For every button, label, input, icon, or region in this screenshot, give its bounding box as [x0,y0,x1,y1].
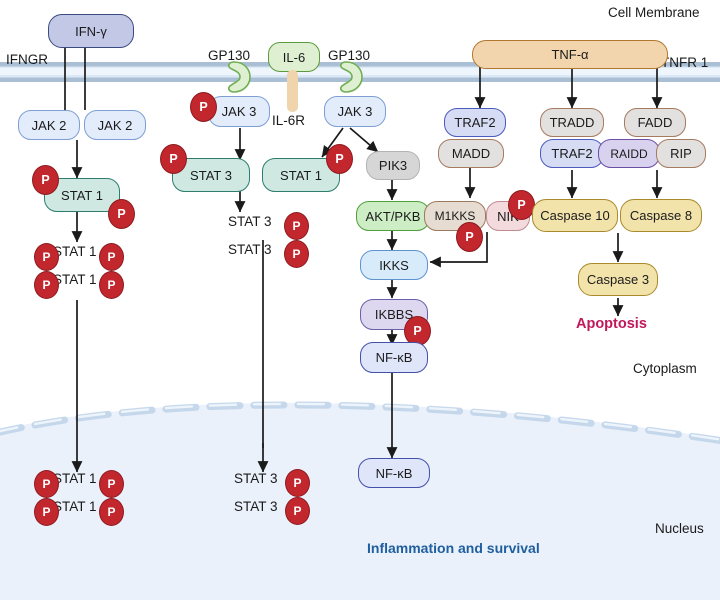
node-fadd[interactable]: FADD [624,108,686,137]
phosphate-stat1-nuc-a-left: P [34,470,59,498]
phosphate-stat1-ifn-right: P [108,199,135,229]
phosphate-stat3-nuc-b: P [285,497,310,525]
outcome-inflammation: Inflammation and survival [367,540,540,556]
node-madd[interactable]: MADD [438,139,504,168]
node-jak3-left[interactable]: JAK 3 [208,96,270,127]
node-nfkb-nucleus[interactable]: NF-κB [358,458,430,488]
il6r-stem [287,70,298,112]
stat3-dimer-a: STAT 3 [228,214,272,229]
phosphate-stat3-nuc-a: P [285,469,310,497]
phosphate-stat1-dimer-b-left: P [34,271,59,299]
node-akt-pkb[interactable]: AKT/PKB [356,201,430,231]
phosphate-stat3-dimer-a: P [284,212,309,240]
phosphate-stat3-dimer-b: P [284,240,309,268]
phosphate-stat1-il6: P [326,144,353,174]
node-tradd[interactable]: TRADD [540,108,604,137]
stat3-dimer-b: STAT 3 [228,242,272,257]
outcome-apoptosis: Apoptosis [576,316,647,332]
phosphate-stat1-dimer-a-left: P [34,243,59,271]
stat1-dimer-b: STAT 1 [53,272,97,287]
cytoplasm-label: Cytoplasm [633,361,697,376]
stat3-nucleus-b: STAT 3 [234,499,278,514]
ligand-il6[interactable]: IL-6 [268,42,320,72]
ligand-ifn-gamma[interactable]: IFN-γ [48,14,134,48]
node-raidd[interactable]: RAIDD [598,139,660,168]
gp130-left-icon[interactable] [218,60,252,94]
cell-membrane-label: Cell Membrane [608,5,700,20]
stat1-dimer-a: STAT 1 [53,244,97,259]
node-jak3-right[interactable]: JAK 3 [324,96,386,127]
stat1-nucleus-a: STAT 1 [53,471,97,486]
node-jak2-right[interactable]: JAK 2 [84,110,146,140]
gp130-right-icon[interactable] [330,60,364,94]
node-caspase3[interactable]: Caspase 3 [578,263,658,296]
node-pik3[interactable]: PIK3 [366,151,420,180]
node-caspase10[interactable]: Caspase 10 [532,199,618,232]
stat1-nucleus-b: STAT 1 [53,499,97,514]
ligand-tnf-alpha[interactable]: TNF-α [472,40,668,69]
il6r-label: IL-6R [272,113,305,128]
phosphate-stat3-il6: P [160,144,187,174]
node-jak2-left[interactable]: JAK 2 [18,110,80,140]
stat3-nucleus-a: STAT 3 [234,471,278,486]
node-rip[interactable]: RIP [656,139,706,168]
phosphate-jak3-left: P [190,92,217,122]
ifngr-label: IFNGR [6,52,48,67]
node-ikks[interactable]: IKKS [360,250,428,280]
phosphate-stat1-dimer-a-right: P [99,243,124,271]
phosphate-stat1-ifn-left: P [32,165,59,195]
pathway-diagram: Cell Membrane Cytoplasm Nucleus IFNGR GP… [0,0,720,600]
phosphate-nik: P [508,190,535,220]
node-traf2-b[interactable]: TRAF2 [540,139,604,168]
node-nfkb-cytoplasm[interactable]: NF-κB [360,342,428,373]
phosphate-stat1-dimer-b-right: P [99,271,124,299]
nucleus-label: Nucleus [655,521,704,536]
phosphate-stat1-nuc-b-left: P [34,498,59,526]
tnfr1-label: TNFR 1 [661,55,708,70]
phosphate-m1kks: P [456,222,483,252]
node-caspase8[interactable]: Caspase 8 [620,199,702,232]
node-traf2-a[interactable]: TRAF2 [444,108,506,137]
phosphate-stat1-nuc-a-right: P [99,470,124,498]
phosphate-stat1-nuc-b-right: P [99,498,124,526]
